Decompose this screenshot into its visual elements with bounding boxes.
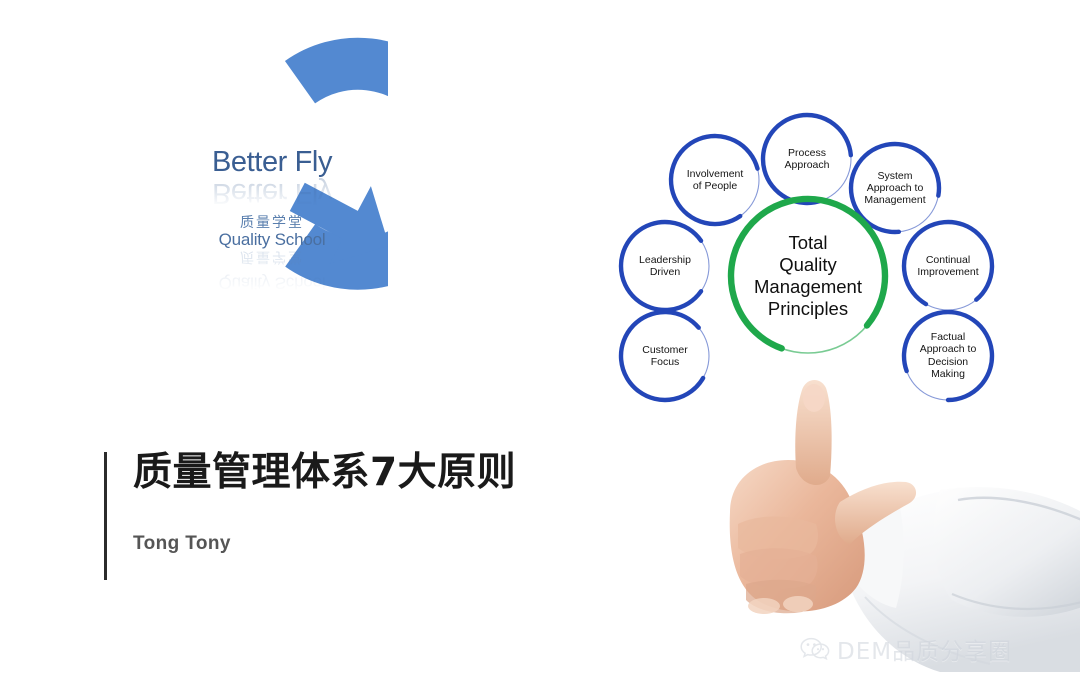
lab-coat-sleeve-highlight bbox=[934, 487, 1080, 617]
tqm-node-involvement-of-people bbox=[671, 136, 759, 224]
slide-canvas: Better Fly Better Fly 质量学堂 Quality Schoo… bbox=[0, 0, 1080, 694]
wechat-icon bbox=[800, 637, 830, 661]
tqm-node-continual-improvement bbox=[904, 222, 992, 310]
page-title: 质量管理体系7大原则 bbox=[133, 452, 516, 495]
logo-char-zhi bbox=[129, 108, 162, 142]
tqm-diagram-graphic bbox=[600, 98, 1020, 418]
logo-char-liang bbox=[172, 43, 214, 89]
tqm-principles-diagram: Involvementof PeopleProcessApproachSyste… bbox=[600, 98, 1020, 418]
tqm-center-node bbox=[731, 199, 885, 353]
wechat-watermark: DEM品质分享圈 bbox=[800, 632, 1012, 666]
logo-char-xue bbox=[242, 51, 280, 93]
index-fingernail bbox=[803, 384, 825, 412]
watermark-text: DEM品质分享圈 bbox=[837, 632, 1012, 666]
tqm-node-leadership-driven bbox=[621, 222, 709, 310]
logo-inner-disc bbox=[159, 95, 297, 233]
fingernail-1 bbox=[748, 598, 780, 614]
author-name: Tong Tony bbox=[133, 533, 516, 555]
tqm-node-process-approach bbox=[763, 115, 851, 203]
brand-logo: Better Fly Better Fly 质量学堂 Quality Schoo… bbox=[68, 24, 388, 304]
fingernail-2 bbox=[783, 596, 813, 612]
brand-logo-graphic bbox=[68, 24, 388, 304]
title-block: 质量管理体系7大原则 Tong Tony bbox=[104, 452, 516, 580]
